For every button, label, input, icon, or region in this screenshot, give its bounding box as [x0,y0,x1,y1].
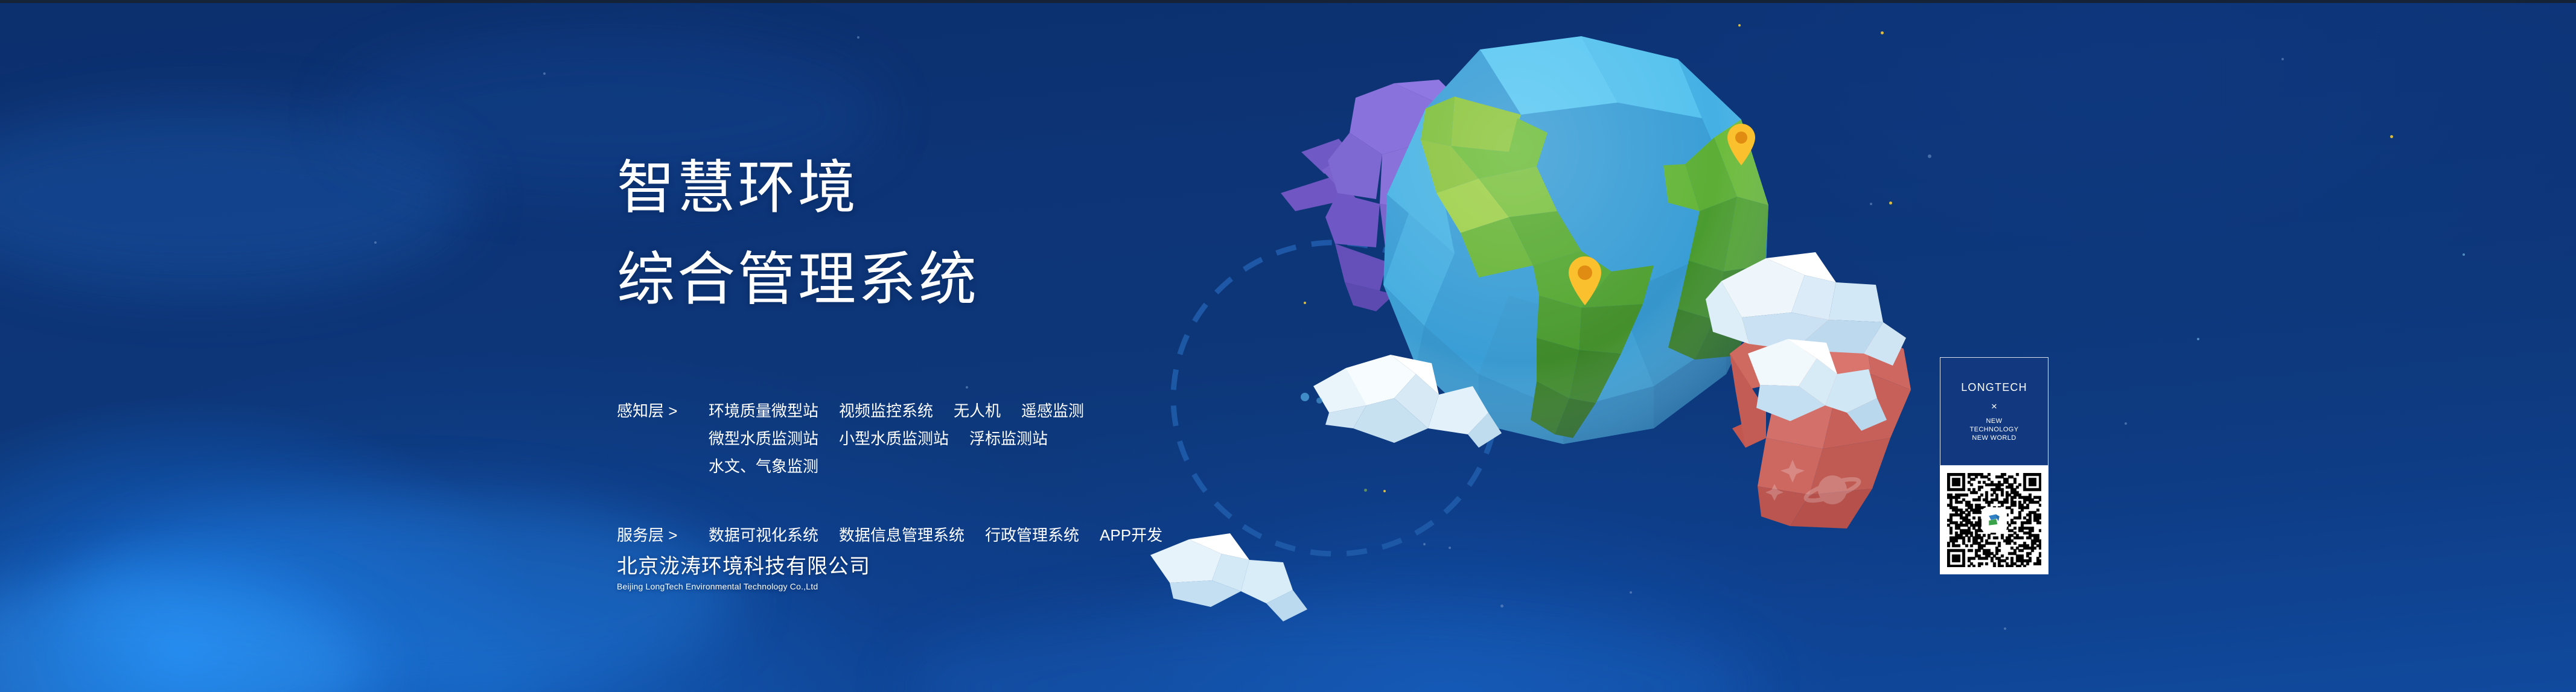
star-dot [543,72,546,75]
sense-layer-item[interactable]: 环境质量微型站 [709,402,818,420]
sense-layer-row: 感知层 > 环境质量微型站视频监控系统无人机遥感监测微型水质监测站小型水质监测站… [617,397,1401,480]
service-layer-item[interactable]: 数据可视化系统 [709,526,818,544]
service-layer-item[interactable]: 数据信息管理系统 [839,526,964,544]
company-name-en: Beijing LongTech Environmental Technolog… [617,580,870,592]
sense-layer-label: 感知层 > [617,397,709,425]
qr-card[interactable]: LONGTECH × NEW TECHNOLOGY NEW WORLD [1940,357,2048,574]
service-layer-item[interactable]: APP开发 [1100,526,1162,544]
star-dot [2281,58,2284,60]
page-title: 智慧环境 综合管理系统 [617,142,1401,326]
star-dot [2197,338,2199,340]
sense-layer-item[interactable]: 浮标监测站 [969,430,1048,448]
tagline-line-1: NEW [1969,417,2018,425]
sense-layer-item[interactable]: 微型水质监测站 [709,430,818,448]
star-dot [2004,627,2006,630]
background-haze [905,603,1750,692]
star-dot [2125,422,2127,425]
tagline-line-2: TECHNOLOGY [1969,425,2018,434]
sense-layer-items: 环境质量微型站视频监控系统无人机遥感监测微型水质监测站小型水质监测站浮标监测站水… [709,397,1401,480]
service-layer-item[interactable]: 行政管理系统 [985,526,1079,544]
sense-layer-item[interactable]: 无人机 [954,402,1001,420]
top-strip [0,0,2576,3]
service-layer-line: 数据可视化系统数据信息管理系统行政管理系统APP开发 [709,521,1401,549]
brand-name: LONGTECH [1961,381,2027,394]
company-block: 北京泷涛环境科技有限公司 Beijing LongTech Environmen… [617,554,870,592]
star-dot [2463,253,2465,256]
hero-banner: 智慧环境 综合管理系统 感知层 > 环境质量微型站视频监控系统无人机遥感监测微型… [0,0,2576,692]
service-layer-label: 服务层 > [617,521,709,549]
company-name-cn: 北京泷涛环境科技有限公司 [617,554,870,579]
tagline-line-3: NEW WORLD [1969,434,2018,442]
service-layer-items: 数据可视化系统数据信息管理系统行政管理系统APP开发 [709,521,1401,549]
sense-layer-line: 环境质量微型站视频监控系统无人机遥感监测 [709,397,1401,425]
qr-card-header: LONGTECH × NEW TECHNOLOGY NEW WORLD [1940,357,2048,466]
background-glow [0,579,374,692]
qr-code-image[interactable] [1947,473,2041,567]
sense-layer-line: 水文、气象监测 [709,452,1401,480]
hero-copy: 智慧环境 综合管理系统 感知层 > 环境质量微型站视频监控系统无人机遥感监测微型… [617,142,1401,549]
multiply-icon: × [1991,398,1997,416]
sense-layer-item[interactable]: 视频监控系统 [839,402,933,420]
qr-code-panel[interactable] [1940,466,2048,574]
sense-layer-item[interactable]: 水文、气象监测 [709,457,818,475]
star-dot [857,36,859,39]
star-dot [374,241,377,244]
sense-layer-item[interactable]: 遥感监测 [1021,402,1084,420]
brand-tagline: NEW TECHNOLOGY NEW WORLD [1969,417,2018,442]
sense-layer-item[interactable]: 小型水质监测站 [839,430,949,448]
qr-center-logo [1983,509,2006,532]
star-dot [2390,135,2393,138]
service-layer-row: 服务层 > 数据可视化系统数据信息管理系统行政管理系统APP开发 [617,521,1401,549]
sense-layer-line: 微型水质监测站小型水质监测站浮标监测站 [709,425,1401,452]
background-haze [0,109,471,290]
